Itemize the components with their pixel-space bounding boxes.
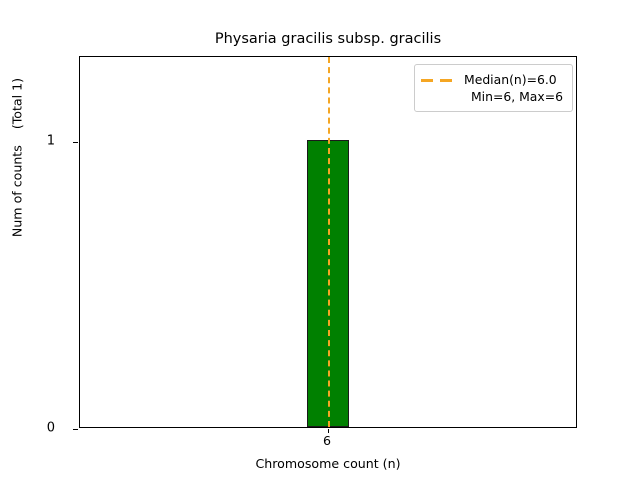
chart-title: Physaria gracilis subsp. gracilis [79,30,577,48]
x-axis-label: Chromosome count (n) [79,456,577,471]
median-line [328,57,330,427]
y-tick-0 [73,429,78,430]
chart-legend: Median(n)=6.0 Min=6, Max=6 [414,64,573,112]
plot-inner [80,57,576,427]
y-axis-label-total: (Total 1) [10,78,25,129]
legend-entry-median: Median(n)=6.0 [421,71,564,88]
y-tick-label-0: 0 [15,421,55,436]
y-tick-1 [73,142,78,143]
y-axis-label-spacer [10,129,25,145]
dashed-line-icon [421,74,455,86]
x-tick-label-6: 6 [297,433,357,448]
plot-area: Median(n)=6.0 Min=6, Max=6 [79,56,577,428]
y-axis-label: Num of counts (Total 1) [10,0,25,338]
y-axis-label-main: Num of counts [10,145,25,237]
chart-figure: Physaria gracilis subsp. gracilis Median… [0,0,640,480]
legend-label-median: Median(n)=6.0 [464,71,557,88]
legend-label-minmax: Min=6, Max=6 [421,88,564,105]
